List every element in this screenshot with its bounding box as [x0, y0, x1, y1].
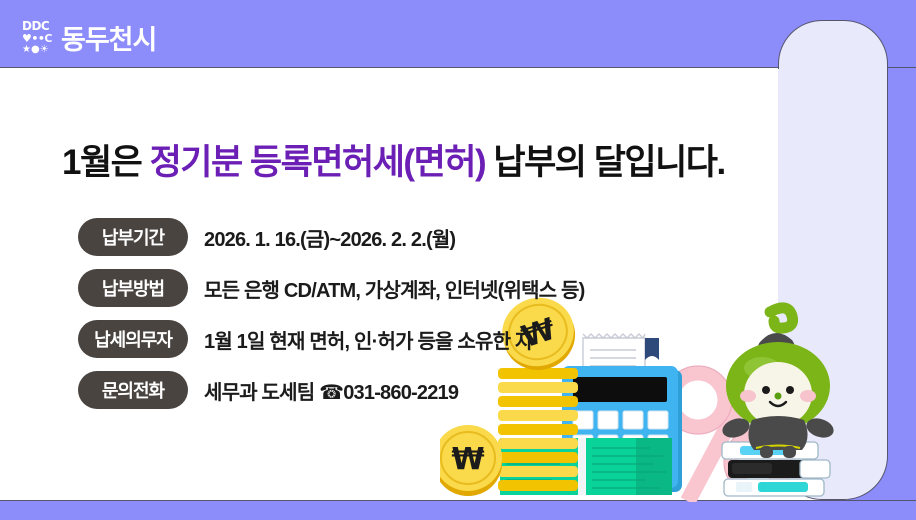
city-name-label: 동두천시 — [61, 18, 156, 57]
logo-mark-line2: ♥••C — [22, 33, 52, 44]
info-row-contact-phone: 문의전화 세무과 도세팀 ☎031-860-2219 — [78, 370, 585, 410]
value-payment-method: 모든 은행 CD/ATM, 가상계좌, 인터넷(위택스 등) — [204, 274, 585, 303]
label-pill-taxpayer: 납세의무자 — [78, 320, 188, 358]
svg-text:₩: ₩ — [451, 442, 484, 477]
logo-mark-line3: ★●☀ — [22, 45, 52, 55]
book-stack-icon — [722, 442, 830, 496]
mascot-character-icon — [720, 308, 836, 458]
value-taxpayer: 1월 1일 현재 면허, 인·허가 등을 소유한 자 — [204, 325, 533, 354]
label-pill-payment-method: 납부방법 — [78, 269, 188, 307]
info-list: 납부기간 2026. 1. 16.(금)~2026. 2. 2.(월) 납부방법… — [78, 217, 585, 421]
label-pill-contact-phone: 문의전화 — [78, 371, 188, 409]
value-payment-period: 2026. 1. 16.(금)~2026. 2. 2.(월) — [204, 223, 455, 252]
label-pill-payment-period: 납부기간 — [78, 218, 188, 256]
headline-prefix: 1월은 — [62, 143, 150, 182]
info-row-payment-period: 납부기간 2026. 1. 16.(금)~2026. 2. 2.(월) — [78, 217, 585, 257]
page-title: 1월은 정기분 등록면허세(면허) 납부의 달입니다. — [62, 134, 725, 185]
notice-banner: DDC ♥••C ★●☀ 동두천시 1월은 정기분 등록면허세(면허) 납부의 … — [0, 0, 916, 520]
ddc-logo-icon: DDC ♥••C ★●☀ — [22, 20, 52, 55]
info-row-payment-method: 납부방법 모든 은행 CD/ATM, 가상계좌, 인터넷(위택스 등) — [78, 268, 585, 308]
gold-coin-small-icon: ₩ — [440, 425, 502, 496]
headline-suffix: 납부의 달입니다. — [485, 143, 725, 182]
city-logo: DDC ♥••C ★●☀ 동두천시 — [22, 18, 156, 57]
logo-mark-line1: DDC — [22, 20, 52, 32]
footer-bar — [0, 500, 916, 520]
headline-accent: 정기분 등록면허세(면허) — [150, 143, 486, 182]
info-row-taxpayer: 납세의무자 1월 1일 현재 면허, 인·허가 등을 소유한 자 — [78, 319, 585, 359]
value-contact-phone: 세무과 도세팀 ☎031-860-2219 — [204, 376, 458, 405]
